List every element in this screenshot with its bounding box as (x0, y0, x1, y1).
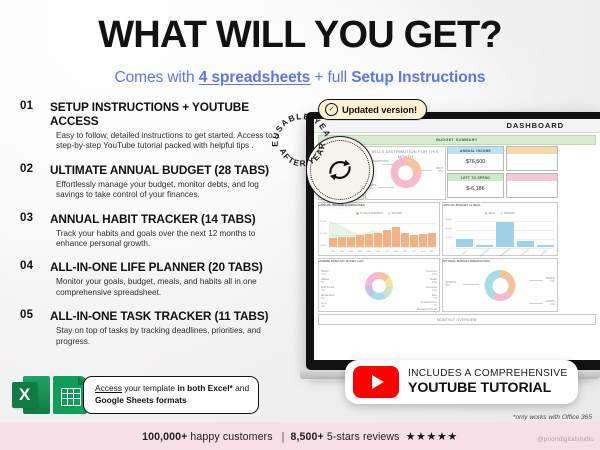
reviews-label: 5-stars reviews (324, 431, 400, 443)
pie-label: Rent7% (432, 294, 437, 300)
youtube-line1: INCLUDES A COMPREHENSIVE (408, 368, 567, 380)
feature-number: 04 (20, 260, 42, 272)
chart-budget-vs-real: ANNUAL BUDGET vs REAL REAL BUDGET 60,000… (442, 202, 558, 256)
chart-title: MY REAL BUDGET BREAKDOWN (443, 259, 557, 263)
bills-label-rent: RENT 25% (436, 167, 443, 173)
feature-number: 05 (20, 309, 42, 321)
budget-summary-label: BUDGET SUMMARY (436, 138, 478, 142)
subtitle-highlight: 4 spreadsheets (199, 69, 310, 86)
reviews-count: 8,500+ (291, 431, 324, 443)
dashboard-title: DASHBOARD (507, 121, 564, 130)
feature-title: SETUP INSTRUCTIONS + YOUTUBE ACCESS (50, 100, 300, 128)
feature-title: ANNUAL HABIT TRACKER (14 TABS) (50, 212, 300, 226)
list-item: 01 SETUP INSTRUCTIONS + YOUTUBE ACCESS E… (20, 100, 300, 152)
chart-where-money-goes: WHERE DOES MY MONEY GO? Others11% Utilit… (318, 258, 440, 312)
chart-legend: REAL BUDGET (443, 212, 557, 215)
feature-desc: Easy to follow, detailed instructions to… (56, 131, 284, 152)
pie-label: Amazon Prime7% (421, 301, 437, 307)
office-note: *only works with Office 365 (513, 414, 592, 421)
feature-desc: Track your habits and goals over the nex… (56, 229, 284, 250)
pie-label: Others11% (321, 270, 329, 276)
pie-label: Utilities8% (321, 278, 329, 284)
chart-plot-area: 15,000 10,000 5,000 (329, 219, 436, 247)
formats-line2: Google Sheets formats (95, 395, 187, 405)
chart-title: WHERE DOES MY MONEY GO? (319, 259, 439, 263)
recycle-arrows-icon (323, 153, 358, 188)
stamp-bottom-text: AFTER YEAR (277, 140, 331, 173)
customers-count: 100,000+ (142, 431, 187, 443)
poster-canvas: WHAT WILL YOU GET? Comes with 4 spreadsh… (0, 0, 600, 450)
feature-number: 02 (20, 163, 42, 175)
list-item: 04 ALL-IN-ONE LIFE PLANNER (20 TABS) Mon… (20, 260, 300, 298)
feature-desc: Monitor your goals, budget, meals, and h… (56, 277, 284, 298)
youtube-tutorial-banner[interactable]: INCLUDES A COMPREHENSIVE YOUTUBE TUTORIA… (345, 360, 578, 404)
kpi-extra-2 (506, 173, 558, 198)
feature-title: ALL-IN-ONE LIFE PLANNER (20 TABS) (50, 260, 300, 274)
google-sheets-icon (53, 376, 87, 414)
pie-label: SAVINGS36% (445, 281, 456, 287)
budget-bar-series (456, 219, 554, 247)
feature-desc: Stay on top of tasks by tracking deadlin… (56, 326, 284, 347)
page-subtitle: Comes with 4 spreadsheets + full Setup I… (0, 68, 600, 88)
youtube-banner-text: INCLUDES A COMPREHENSIVE YOUTUBE TUTORIA… (408, 368, 567, 396)
chart-income-vs-expenses: ANNUAL INCOME vs EXPENSES TOTAL EXPENSES… (318, 202, 440, 256)
subtitle-suffix: Setup Instructions (351, 69, 485, 86)
chart-real-budget-breakdown: MY REAL BUDGET BREAKDOWN SAVINGS36% NEED… (442, 258, 558, 312)
updated-version-badge: ✓ Updated version! (318, 99, 427, 120)
list-item: 05 ALL-IN-ONE TASK TRACKER (11 TABS) Sta… (20, 309, 300, 347)
chart-title: ANNUAL BUDGET vs REAL (443, 203, 557, 207)
monthly-overview-strip: MONTHLY OVERVIEW (318, 314, 596, 325)
chart-legend: TOTAL EXPENSES INCOME (319, 212, 439, 215)
kpi-value: $-6,186 (448, 181, 503, 197)
kpi-header: LEFT TO SPEND (448, 174, 503, 181)
formats-strip: X Access your template in both Excel* an… (12, 376, 259, 414)
money-distribution-donut (365, 272, 393, 300)
social-proof-bar: 100,000+ happy customers |8,500+ 5-stars… (0, 422, 600, 450)
pie-label: Restaurants8% (321, 294, 334, 300)
budget-breakdown-donut (485, 270, 516, 301)
customers-label: happy customers (187, 431, 275, 443)
feature-list: 01 SETUP INSTRUCTIONS + YOUTUBE ACCESS E… (20, 100, 300, 358)
chart-x-labels: JANFEB MARAPR MAYJUN JULAUG SEPOCT NOVDE… (329, 251, 436, 253)
formats-line1c: in both Excel* (177, 383, 232, 393)
chart-plot-area: 60,000 40,000 20,000 1 (456, 219, 554, 247)
pie-label: Kids School7% (321, 286, 334, 292)
chart-x-labels: RENTGROCERIES TRANSPORTUTILITIES OTHER (456, 252, 554, 254)
updated-version-label: Updated version! (342, 104, 417, 115)
bills-donut-chart (390, 157, 421, 188)
excel-icon-letter: X (12, 382, 37, 408)
star-rating-icon: ★★★★★ (406, 431, 458, 443)
pie-label: Gym9% (321, 302, 326, 308)
pie-label: Insurance11% (426, 286, 437, 292)
kpi-header: ANNUAL INCOME (448, 147, 503, 154)
footer-separator: | (282, 431, 285, 443)
excel-icon: X (12, 376, 50, 414)
feature-number: 03 (20, 212, 42, 224)
formats-access-word: Access (95, 383, 122, 393)
kpi-annual-income: ANNUAL INCOME $76,500 (447, 146, 504, 171)
list-item: 03 ANNUAL HABIT TRACKER (14 TABS) Track … (20, 212, 300, 250)
watermark: @prioridigitalstudio (537, 436, 594, 443)
formats-line1b: your template (122, 383, 177, 393)
formats-line1d: and (233, 383, 249, 393)
feature-title: ALL-IN-ONE TASK TRACKER (11 TABS) (50, 309, 300, 323)
feature-number: 01 (20, 100, 42, 112)
kpi-left-to-spend: LEFT TO SPEND $-6,186 (447, 173, 504, 198)
social-proof-text: 100,000+ happy customers |8,500+ 5-stars… (142, 430, 458, 443)
pie-label: Groceries14% (426, 270, 437, 276)
feature-title: ULTIMATE ANNUAL BUDGET (28 TABS) (50, 163, 300, 177)
subtitle-middle: + full (310, 69, 351, 86)
subtitle-prefix: Comes with (115, 69, 199, 86)
formats-callout: Access your template in both Excel* and … (83, 376, 259, 413)
feature-desc: Effortlessly manage your budget, monitor… (56, 180, 284, 201)
expenses-bar-series (329, 219, 436, 247)
youtube-play-icon[interactable] (353, 366, 399, 398)
list-item: 02 ULTIMATE ANNUAL BUDGET (28 TABS) Effo… (20, 163, 300, 201)
bills-distribution-panel: BILLS DISTRIBUTION FOR THIS MONTH SUBSCR… (365, 146, 446, 200)
page-title: WHAT WILL YOU GET? (0, 14, 600, 56)
pie-label: NEEDS43% (546, 277, 555, 283)
pie-label: Health11% (430, 278, 437, 284)
kpi-value: $76,500 (448, 154, 503, 170)
pie-label: WANTS21% (546, 300, 555, 306)
youtube-line2: YOUTUBE TUTORIAL (408, 380, 567, 396)
kpi-extra-1 (506, 146, 558, 171)
